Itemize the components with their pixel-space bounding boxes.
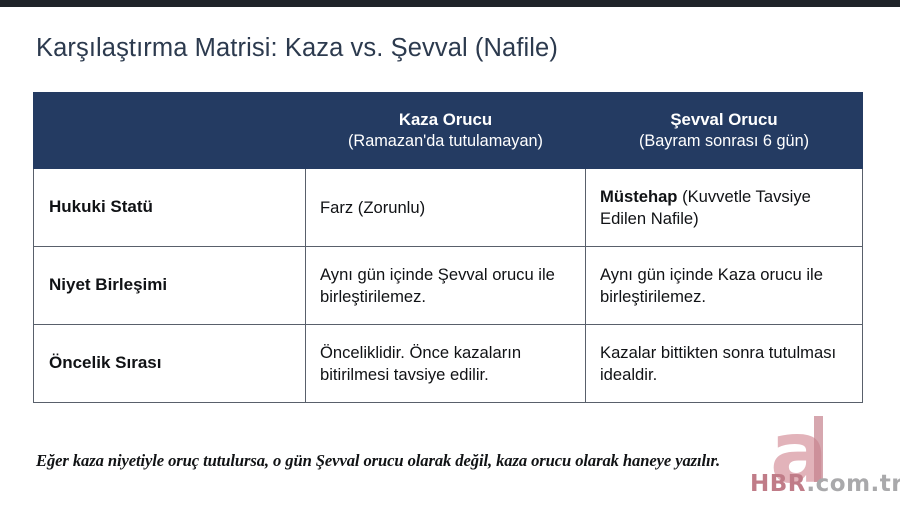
watermark-brand: HBR <box>750 471 806 497</box>
cell-hukuki-statu-kaza: Farz (Zorunlu) <box>306 169 586 247</box>
watermark-text: HBR.com.tr <box>750 473 900 496</box>
watermark-domain: .com.tr <box>806 471 900 497</box>
slide-canvas: Karşılaştırma Matrisi: Kaza vs. Şevval (… <box>0 7 900 508</box>
cell-niyet-birlesimi-kaza: Aynı gün içinde Şevval orucu ile birleşt… <box>306 247 586 325</box>
row-label-oncelik-sirasi: Öncelik Sırası <box>34 325 306 403</box>
table-body: Hukuki Statü Farz (Zorunlu) Müstehap (Ku… <box>34 169 863 403</box>
footnote-text: Eğer kaza niyetiyle oruç tutulursa, o gü… <box>36 451 856 471</box>
column-header-sevval-title: Şevval Orucu <box>596 109 852 131</box>
cell-text: Aynı gün içinde Şevval orucu ile birleşt… <box>320 265 555 306</box>
top-dark-bar <box>0 0 900 7</box>
table-row: Öncelik Sırası Önceliklidir. Önce kazala… <box>34 325 863 403</box>
column-header-kaza: Kaza Orucu (Ramazan'da tutulamayan) <box>306 93 586 169</box>
column-header-kaza-title: Kaza Orucu <box>316 109 575 131</box>
cell-text: Aynı gün içinde Kaza orucu ile birleştir… <box>600 265 823 306</box>
row-label-hukuki-statu: Hukuki Statü <box>34 169 306 247</box>
cell-oncelik-sirasi-sevval: Kazalar bittikten sonra tutulması ideald… <box>586 325 863 403</box>
watermark-bar-icon <box>814 416 823 482</box>
cell-text: Kazalar bittikten sonra tutulması ideald… <box>600 343 836 384</box>
column-header-sevval-subtitle: (Bayram sonrası 6 gün) <box>596 131 852 153</box>
cell-hukuki-statu-sevval: Müstehap (Kuvvetle Tavsiye Edilen Nafile… <box>586 169 863 247</box>
column-header-sevval: Şevval Orucu (Bayram sonrası 6 gün) <box>586 93 863 169</box>
page-title: Karşılaştırma Matrisi: Kaza vs. Şevval (… <box>36 34 558 63</box>
comparison-matrix-table: Kaza Orucu (Ramazan'da tutulamayan) Şevv… <box>33 92 863 403</box>
cell-text: Farz (Zorunlu) <box>320 198 425 217</box>
table-row: Hukuki Statü Farz (Zorunlu) Müstehap (Ku… <box>34 169 863 247</box>
cell-text: Önceliklidir. Önce kazaların bitirilmesi… <box>320 343 521 384</box>
header-row: Kaza Orucu (Ramazan'da tutulamayan) Şevv… <box>34 93 863 169</box>
cell-emphasis: Müstehap <box>600 187 677 206</box>
cell-niyet-birlesimi-sevval: Aynı gün içinde Kaza orucu ile birleştir… <box>586 247 863 325</box>
cell-oncelik-sirasi-kaza: Önceliklidir. Önce kazaların bitirilmesi… <box>306 325 586 403</box>
row-label-niyet-birlesimi: Niyet Birleşimi <box>34 247 306 325</box>
table-row: Niyet Birleşimi Aynı gün içinde Şevval o… <box>34 247 863 325</box>
table-corner-cell <box>34 93 306 169</box>
column-header-kaza-subtitle: (Ramazan'da tutulamayan) <box>316 131 575 153</box>
table-header: Kaza Orucu (Ramazan'da tutulamayan) Şevv… <box>34 93 863 169</box>
